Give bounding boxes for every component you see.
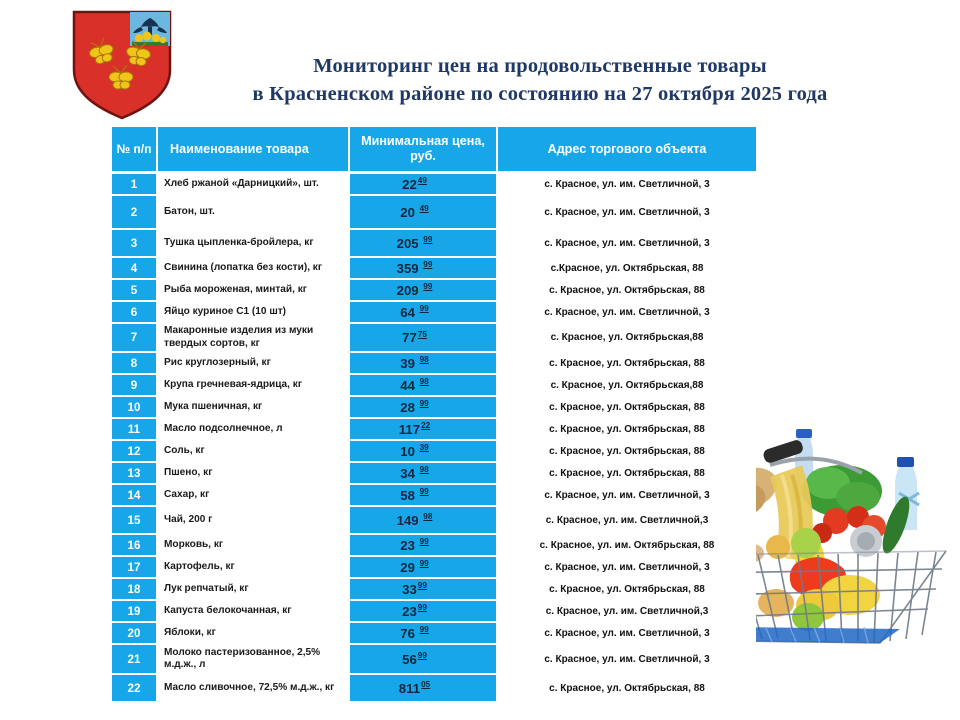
table-row: 3Тушка цыпленка-бройлера, кг205 99с. Кра… <box>112 230 756 258</box>
cell-row-number: 8 <box>112 353 158 375</box>
cell-row-number: 6 <box>112 302 158 324</box>
cell-product-name: Соль, кг <box>158 441 350 463</box>
cell-price: 2249 <box>350 174 498 196</box>
cell-address: с. Красное, ул. им. Октябрьская, 88 <box>498 535 756 557</box>
cell-address: с.Красное, ул. Октябрьская, 88 <box>498 258 756 280</box>
price-kopecks: 98 <box>423 512 432 521</box>
table-row: 6Яйцо куриное С1 (10 шт)64 99с. Красное,… <box>112 302 756 324</box>
cell-address: с. Красное, ул. Октябрьская, 88 <box>498 441 756 463</box>
table-row: 18Лук репчатый, кг3399с. Красное, ул. Ок… <box>112 579 756 601</box>
cell-address: с. Красное, ул. им. Светличной,3 <box>498 507 756 535</box>
price-value: 7775 <box>402 330 427 345</box>
cell-product-name: Крупа гречневая-ядрица, кг <box>158 375 350 397</box>
table-header-row: № п/п Наименование товара Минимальная це… <box>112 127 756 174</box>
price-kopecks: 99 <box>420 537 429 546</box>
price-value: 39 98 <box>400 356 428 371</box>
price-value: 2249 <box>402 177 427 192</box>
cell-row-number: 15 <box>112 507 158 535</box>
cell-price: 20 49 <box>350 196 498 230</box>
price-rubles: 22 <box>402 177 417 192</box>
price-rubles: 28 <box>400 400 418 415</box>
cell-row-number: 17 <box>112 557 158 579</box>
cell-row-number: 13 <box>112 463 158 485</box>
price-kopecks: 99 <box>420 487 429 496</box>
cell-product-name: Рис круглозерный, кг <box>158 353 350 375</box>
cell-price: 2399 <box>350 601 498 623</box>
price-value: 28 99 <box>400 400 428 415</box>
price-rubles: 44 <box>400 378 418 393</box>
table-row: 14Сахар, кг58 99с. Красное, ул. им. Свет… <box>112 485 756 507</box>
price-kopecks: 99 <box>420 625 429 634</box>
cell-address: с. Красное, ул. им. Светличной, 3 <box>498 196 756 230</box>
price-rubles: 56 <box>402 652 417 667</box>
cell-product-name: Макаронные изделия из муки твердых сорто… <box>158 324 350 353</box>
price-kopecks: 99 <box>420 399 429 408</box>
cell-price: 44 98 <box>350 375 498 397</box>
cell-address: с. Красное, ул. им. Светличной, 3 <box>498 230 756 258</box>
price-rubles: 209 <box>397 283 423 298</box>
column-header-price-line1: Минимальная цена, <box>361 134 485 148</box>
price-rubles: 149 <box>397 513 423 528</box>
price-rubles: 34 <box>400 466 418 481</box>
cell-price: 359 99 <box>350 258 498 280</box>
price-monitoring-table: № п/п Наименование товара Минимальная це… <box>112 127 756 703</box>
price-rubles: 811 <box>399 681 420 696</box>
cell-price: 58 99 <box>350 485 498 507</box>
table-row: 19 Капуста белокочанная, кг2399с. Красно… <box>112 601 756 623</box>
table-row: 16Морковь, кг23 99с. Красное, ул. им. Ок… <box>112 535 756 557</box>
price-value: 11722 <box>399 422 430 437</box>
cell-row-number: 10 <box>112 397 158 419</box>
cell-price: 28 99 <box>350 397 498 419</box>
price-kopecks: 99 <box>423 235 432 244</box>
price-kopecks: 49 <box>418 176 427 185</box>
cell-row-number: 7 <box>112 324 158 353</box>
cell-price: 34 98 <box>350 463 498 485</box>
table-row: 2Батон, шт.20 49с. Красное, ул. им. Свет… <box>112 196 756 230</box>
table-row: 22Масло сливочное, 72,5% м.д.ж., кг81105… <box>112 675 756 703</box>
table-row: 1Хлеб ржаной «Дарницкий», шт.2249с. Крас… <box>112 174 756 196</box>
price-kopecks: 99 <box>418 581 427 590</box>
cell-product-name: Морковь, кг <box>158 535 350 557</box>
cell-product-name: Чай, 200 г <box>158 507 350 535</box>
price-kopecks: 98 <box>420 465 429 474</box>
price-kopecks: 99 <box>418 651 427 660</box>
cell-row-number: 4 <box>112 258 158 280</box>
table-row: 7Макаронные изделия из муки твердых сорт… <box>112 324 756 353</box>
cell-row-number: 19 <box>112 601 158 623</box>
cell-product-name: Хлеб ржаной «Дарницкий», шт. <box>158 174 350 196</box>
column-header-address: Адрес торгового объекта <box>498 127 756 174</box>
table-body: 1Хлеб ржаной «Дарницкий», шт.2249с. Крас… <box>112 174 756 703</box>
price-kopecks: 98 <box>420 377 429 386</box>
page-title-line1: Мониторинг цен на продовольственные това… <box>190 52 890 80</box>
cell-product-name: Масло сливочное, 72,5% м.д.ж., кг <box>158 675 350 703</box>
cell-price: 205 99 <box>350 230 498 258</box>
cell-address: с. Красное, ул. Октябрьская, 88 <box>498 675 756 703</box>
price-value: 23 99 <box>400 538 428 553</box>
cell-row-number: 22 <box>112 675 158 703</box>
cell-row-number: 11 <box>112 419 158 441</box>
cell-address: с. Красное, ул. Октябрьская, 88 <box>498 397 756 419</box>
cell-address: с. Красное, ул. им. Светличной, 3 <box>498 645 756 675</box>
price-value: 205 99 <box>397 236 433 251</box>
cell-product-name: Тушка цыпленка-бройлера, кг <box>158 230 350 258</box>
price-kopecks: 99 <box>423 282 432 291</box>
cell-product-name: Мука пшеничная, кг <box>158 397 350 419</box>
cell-address: с. Красное, ул. им. Светличной, 3 <box>498 557 756 579</box>
cell-address: с. Красное, ул. им. Светличной, 3 <box>498 623 756 645</box>
price-rubles: 77 <box>402 330 417 345</box>
price-kopecks: 99 <box>420 559 429 568</box>
price-rubles: 359 <box>397 261 423 276</box>
cell-address: с. Красное, ул. им. Светличной,3 <box>498 601 756 623</box>
cell-address: с. Красное, ул. им. Светличной, 3 <box>498 174 756 196</box>
price-rubles: 117 <box>399 422 420 437</box>
price-value: 58 99 <box>400 488 428 503</box>
price-kopecks: 98 <box>420 355 429 364</box>
table-row: 20Яблоки, кг76 99с. Красное, ул. им. Све… <box>112 623 756 645</box>
column-header-price-line2: руб. <box>410 149 436 163</box>
price-value: 3399 <box>402 582 427 597</box>
price-value: 5699 <box>402 652 427 667</box>
cell-row-number: 14 <box>112 485 158 507</box>
price-rubles: 205 <box>397 236 423 251</box>
price-kopecks: 99 <box>423 260 432 269</box>
table-row: 10Мука пшеничная, кг28 99с. Красное, ул.… <box>112 397 756 419</box>
cell-price: 39 98 <box>350 353 498 375</box>
cell-address: с. Красное, ул. Октябрьская, 88 <box>498 353 756 375</box>
table-header: № п/п Наименование товара Минимальная це… <box>112 127 756 174</box>
cell-product-name: Яйцо куриное С1 (10 шт) <box>158 302 350 324</box>
price-rubles: 33 <box>402 582 417 597</box>
table-row: 11Масло подсолнечное, л11722с. Красное, … <box>112 419 756 441</box>
price-value: 81105 <box>399 681 430 696</box>
cell-price: 7775 <box>350 324 498 353</box>
cell-product-name: Яблоки, кг <box>158 623 350 645</box>
cell-price: 11722 <box>350 419 498 441</box>
price-value: 359 99 <box>397 261 433 276</box>
table-row: 9Крупа гречневая-ядрица, кг44 98с. Красн… <box>112 375 756 397</box>
price-kopecks: 75 <box>418 330 427 339</box>
cell-row-number: 5 <box>112 280 158 302</box>
price-rubles: 20 <box>400 205 418 220</box>
column-header-price: Минимальная цена, руб. <box>350 127 498 174</box>
price-rubles: 23 <box>400 538 418 553</box>
price-rubles: 64 <box>400 305 418 320</box>
cell-row-number: 16 <box>112 535 158 557</box>
cell-product-name: Сахар, кг <box>158 485 350 507</box>
cell-price: 64 99 <box>350 302 498 324</box>
table-row: 21 Молоко пастеризованное, 2,5% м.д.ж., … <box>112 645 756 675</box>
price-value: 76 99 <box>400 626 428 641</box>
column-header-number: № п/п <box>112 127 158 174</box>
cell-price: 10 39 <box>350 441 498 463</box>
cell-row-number: 1 <box>112 174 158 196</box>
cell-row-number: 12 <box>112 441 158 463</box>
cell-product-name: Рыба мороженая, минтай, кг <box>158 280 350 302</box>
cell-price: 23 99 <box>350 535 498 557</box>
price-rubles: 58 <box>400 488 418 503</box>
price-rubles: 23 <box>402 604 417 619</box>
cell-address: с. Красное, ул. Октябрьская, 88 <box>498 419 756 441</box>
table-row: 5Рыба мороженая, минтай, кг209 99с. Крас… <box>112 280 756 302</box>
cell-price: 209 99 <box>350 280 498 302</box>
price-value: 29 99 <box>400 560 428 575</box>
price-kopecks: 39 <box>420 443 429 452</box>
cell-product-name: Свинина (лопатка без кости), кг <box>158 258 350 280</box>
price-value: 34 98 <box>400 466 428 481</box>
cell-product-name: Батон, шт. <box>158 196 350 230</box>
cell-address: с. Красное, ул. им. Светличной, 3 <box>498 485 756 507</box>
price-value: 2399 <box>402 604 427 619</box>
cell-price: 3399 <box>350 579 498 601</box>
cell-row-number: 9 <box>112 375 158 397</box>
cell-product-name: Лук репчатый, кг <box>158 579 350 601</box>
cell-row-number: 3 <box>112 230 158 258</box>
price-value: 20 49 <box>400 205 428 220</box>
cell-product-name: Капуста белокочанная, кг <box>158 601 350 623</box>
cell-price: 29 99 <box>350 557 498 579</box>
cell-row-number: 18 <box>112 579 158 601</box>
price-rubles: 10 <box>400 444 418 459</box>
page-title-line2: в Красненском районе по состоянию на 27 … <box>190 80 890 108</box>
cell-address: с. Красное, ул. им. Светличной, 3 <box>498 302 756 324</box>
cell-row-number: 21 <box>112 645 158 675</box>
coat-of-arms <box>68 8 176 120</box>
page-title: Мониторинг цен на продовольственные това… <box>190 52 890 108</box>
price-rubles: 39 <box>400 356 418 371</box>
table-row: 4Свинина (лопатка без кости), кг359 99с.… <box>112 258 756 280</box>
price-kopecks: 05 <box>421 680 430 689</box>
price-rubles: 76 <box>400 626 418 641</box>
table-row: 13Пшено, кг34 98с. Красное, ул. Октябрьс… <box>112 463 756 485</box>
cell-address: с. Красное, ул. Октябрьская, 88 <box>498 280 756 302</box>
cell-product-name: Масло подсолнечное, л <box>158 419 350 441</box>
table-row: 17Картофель, кг29 99с. Красное, ул. им. … <box>112 557 756 579</box>
price-kopecks: 49 <box>420 204 429 213</box>
cell-price: 5699 <box>350 645 498 675</box>
table-row: 12Соль, кг10 39с. Красное, ул. Октябрьск… <box>112 441 756 463</box>
price-rubles: 29 <box>400 560 418 575</box>
price-value: 149 98 <box>397 513 433 528</box>
cell-address: с. Красное, ул. Октябрьская, 88 <box>498 463 756 485</box>
cell-product-name: Пшено, кг <box>158 463 350 485</box>
cell-row-number: 2 <box>112 196 158 230</box>
cell-price: 81105 <box>350 675 498 703</box>
column-header-product: Наименование товара <box>158 127 350 174</box>
cell-address: с. Красное, ул. Октябрьская, 88 <box>498 579 756 601</box>
price-value: 64 99 <box>400 305 428 320</box>
cell-address: с. Красное, ул. Октябрьская,88 <box>498 324 756 353</box>
cell-address: с. Красное, ул. Октябрьская,88 <box>498 375 756 397</box>
price-kopecks: 99 <box>420 304 429 313</box>
price-kopecks: 22 <box>421 421 430 430</box>
table-row: 8Рис круглозерный, кг39 98с. Красное, ул… <box>112 353 756 375</box>
table-row: 15Чай, 200 г149 98с. Красное, ул. им. Св… <box>112 507 756 535</box>
coat-of-arms-svg <box>68 8 176 120</box>
cell-product-name: Молоко пастеризованное, 2,5% м.д.ж., л <box>158 645 350 675</box>
cell-product-name: Картофель, кг <box>158 557 350 579</box>
cell-row-number: 20 <box>112 623 158 645</box>
cell-price: 149 98 <box>350 507 498 535</box>
price-value: 44 98 <box>400 378 428 393</box>
cell-price: 76 99 <box>350 623 498 645</box>
price-value: 10 39 <box>400 444 428 459</box>
price-value: 209 99 <box>397 283 433 298</box>
price-kopecks: 99 <box>418 603 427 612</box>
